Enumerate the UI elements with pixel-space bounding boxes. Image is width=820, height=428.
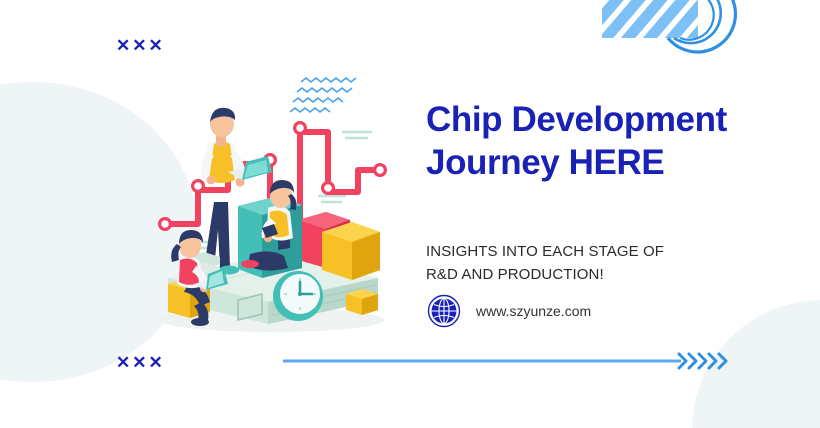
globe-icon bbox=[427, 294, 461, 328]
page-title: Chip Development Journey HERE bbox=[426, 98, 776, 184]
yellow-cube-small bbox=[346, 289, 378, 315]
website-row[interactable]: www.szyunze.com bbox=[427, 294, 591, 328]
wall-clock bbox=[273, 271, 323, 321]
arrow-divider bbox=[283, 350, 738, 372]
yellow-cube-large bbox=[322, 222, 380, 280]
banner-root: ✕✕✕ ✕✕✕ bbox=[0, 0, 820, 428]
website-url[interactable]: www.szyunze.com bbox=[476, 303, 591, 319]
subtitle: INSIGHTS INTO EACH STAGE OF R&D AND PROD… bbox=[426, 240, 756, 286]
blue-wavy-lines bbox=[290, 78, 356, 112]
decorative-xmarks-bottom: ✕✕✕ bbox=[116, 353, 165, 373]
company-logo[interactable] bbox=[602, 0, 752, 54]
decorative-xmarks-top: ✕✕✕ bbox=[116, 36, 165, 56]
teamwork-analytics-illustration bbox=[150, 72, 395, 334]
headline-block: Chip Development Journey HERE bbox=[426, 98, 776, 184]
